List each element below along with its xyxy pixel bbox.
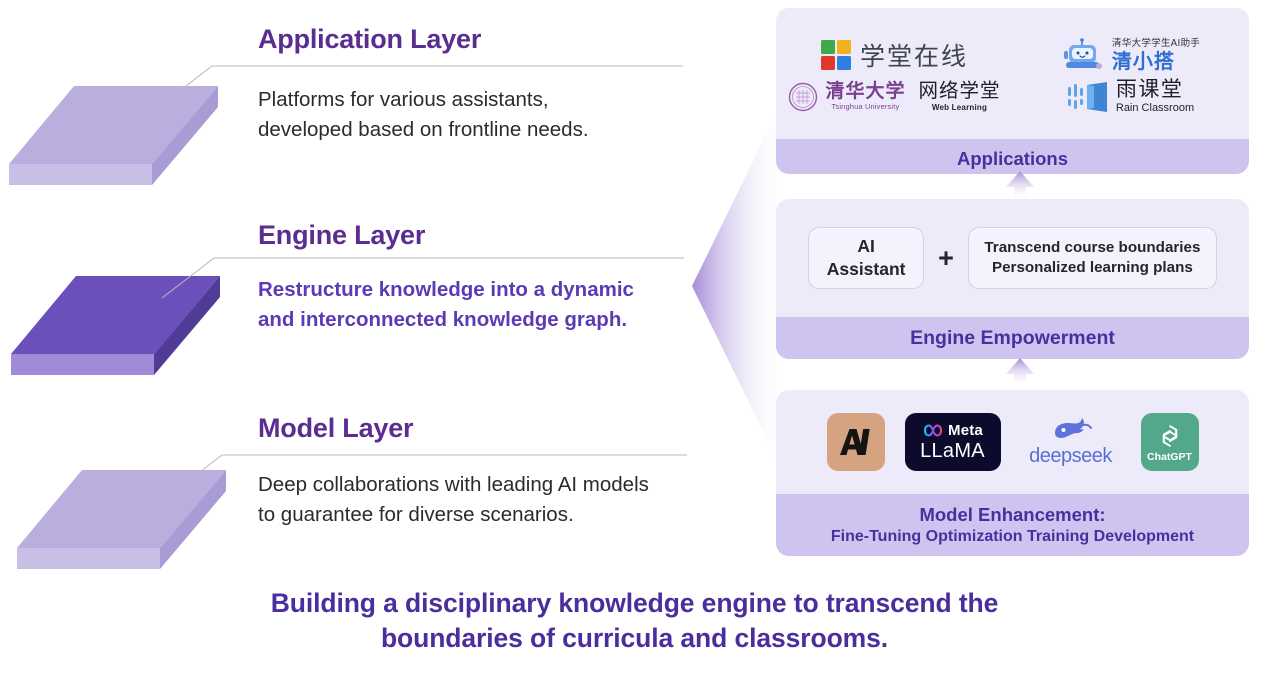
tsinghua-label-en: Tsinghua University xyxy=(832,103,900,110)
applications-row-2: 清华大学 Tsinghua University 网络学堂 Web Learni… xyxy=(776,79,1249,114)
panel-engine: AI Assistant + Transcend course boundari… xyxy=(776,199,1249,359)
layer-desc-line1: Deep collaborations with leading AI mode… xyxy=(258,470,703,500)
applications-footer-label: Applications xyxy=(957,148,1068,170)
llama-label: LLaMA xyxy=(920,440,985,463)
web-learning-label-cn: 网络学堂 xyxy=(919,81,1001,101)
up-arrow-engine-to-applications xyxy=(1000,170,1040,200)
tsinghua-label-cn: 清华大学 xyxy=(825,82,905,101)
pill-ai-assistant[interactable]: AI Assistant xyxy=(808,227,924,289)
layer-desc-engine: Restructure knowledge into a dynamic and… xyxy=(258,275,688,334)
layer-title-model: Model Layer xyxy=(258,413,413,444)
layer-desc-application: Platforms for various assistants, develo… xyxy=(258,85,688,144)
engine-footer-bar: Engine Empowerment xyxy=(776,317,1249,359)
caption-line2: boundaries of curricula and classrooms. xyxy=(0,621,1269,656)
qingxiaoda-sublabel: 清华大学学生AI助手 xyxy=(1112,39,1200,49)
panel-model: Meta LLaMA deepseek xyxy=(776,390,1249,556)
model-footer-line2: Fine-Tuning Optimization Training Develo… xyxy=(831,528,1194,546)
xuetangx-squares-icon xyxy=(821,40,851,70)
applications-row-1: 学堂在线 xyxy=(776,37,1249,73)
caption-line1: Building a disciplinary knowledge engine… xyxy=(0,586,1269,621)
logo-anthropic[interactable] xyxy=(827,413,885,471)
layer-desc-line1: Platforms for various assistants, xyxy=(258,85,688,115)
rain-classroom-icon xyxy=(1067,81,1109,113)
anthropic-icon xyxy=(839,427,873,457)
rain-classroom-label-cn: 雨课堂 xyxy=(1116,79,1194,100)
layer-title-application: Application Layer xyxy=(258,24,481,55)
meta-infinity-icon xyxy=(922,424,944,437)
logo-qingxiaoda[interactable]: 清华大学学生AI助手 清小搭 xyxy=(1013,38,1249,72)
layer-desc-line2: developed based on frontline needs. xyxy=(258,115,688,145)
layer-desc-line1: Restructure knowledge into a dynamic xyxy=(258,275,688,305)
pill-capabilities[interactable]: Transcend course boundaries Personalized… xyxy=(968,227,1217,289)
logo-xuetangx[interactable]: 学堂在线 xyxy=(777,37,1013,73)
logo-meta-llama[interactable]: Meta LLaMA xyxy=(905,413,1001,471)
qingxiaoda-label: 清小搭 xyxy=(1112,51,1200,71)
openai-logo-icon xyxy=(1156,422,1184,450)
layer-desc-line2: to guarantee for diverse scenarios. xyxy=(258,500,703,530)
chatgpt-label: ChatGPT xyxy=(1147,451,1192,463)
up-arrow-model-to-engine xyxy=(1000,357,1040,387)
model-footer-bar: Model Enhancement: Fine-Tuning Optimizat… xyxy=(776,494,1249,556)
flow-arrow-left xyxy=(688,96,784,476)
robot-mascot-icon xyxy=(1061,38,1105,72)
xuetangx-label: 学堂在线 xyxy=(860,37,968,73)
plus-icon: + xyxy=(938,245,954,272)
pill-cap-line1: Transcend course boundaries xyxy=(984,238,1200,258)
engine-content: AI Assistant + Transcend course boundari… xyxy=(776,199,1249,317)
pill-ai-line2: Assistant xyxy=(827,258,906,281)
applications-logo-grid: 学堂在线 xyxy=(776,8,1249,139)
deepseek-label: deepseek xyxy=(1029,445,1112,468)
rain-classroom-label-en: Rain Classroom xyxy=(1116,103,1194,114)
diagram-canvas: Application Layer Platforms for various … xyxy=(0,0,1269,680)
layer-title-engine: Engine Layer xyxy=(258,220,425,251)
layer-desc-line2: and interconnected knowledge graph. xyxy=(258,305,688,335)
bottom-caption: Building a disciplinary knowledge engine… xyxy=(0,586,1269,656)
logo-rain-classroom[interactable]: 雨课堂 Rain Classroom xyxy=(1013,79,1249,114)
layer-desc-model: Deep collaborations with leading AI mode… xyxy=(258,470,703,529)
pill-ai-line1: AI xyxy=(857,235,875,258)
engine-footer-label: Engine Empowerment xyxy=(910,327,1115,350)
pill-cap-line2: Personalized learning plans xyxy=(992,258,1193,278)
model-logo-row: Meta LLaMA deepseek xyxy=(776,390,1249,494)
logo-deepseek[interactable]: deepseek xyxy=(1021,413,1121,471)
tsinghua-seal-icon xyxy=(788,82,818,112)
deepseek-whale-icon xyxy=(1049,417,1093,445)
model-footer-line1: Model Enhancement: xyxy=(919,504,1105,526)
applications-footer-bar: Applications xyxy=(776,139,1249,174)
panel-applications: 学堂在线 xyxy=(776,8,1249,174)
web-learning-label-en: Web Learning xyxy=(932,104,987,112)
logo-tsinghua-web-learning[interactable]: 清华大学 Tsinghua University 网络学堂 Web Learni… xyxy=(777,81,1013,113)
logo-chatgpt[interactable]: ChatGPT xyxy=(1141,413,1199,471)
meta-label: Meta xyxy=(948,422,983,439)
